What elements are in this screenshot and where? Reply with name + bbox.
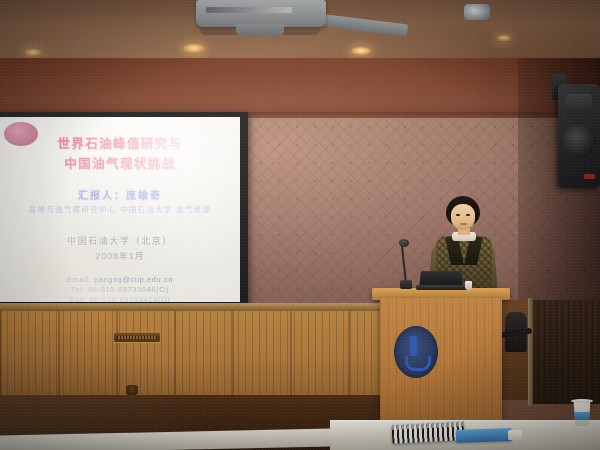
- slide-date: 2008年1月: [0, 250, 240, 262]
- podium-cup: [465, 281, 472, 290]
- speaker-tweeter-icon: [566, 94, 592, 114]
- presenter-eye: [456, 214, 460, 216]
- slide-title-line1: 世界石油峰值研究与: [0, 135, 240, 154]
- cabinet-frame: [528, 298, 533, 406]
- slide-email: Email: pangxq@cup.edu.cn: [0, 275, 240, 285]
- projector-bracket: [236, 24, 284, 36]
- paper-cup-rim: [571, 399, 593, 403]
- lecture-hall-photo: 世界石油峰值研究与 中国油气现状挑战 汇报人：庞雄奇 盆地与油气藏研究中心 中国…: [0, 0, 600, 450]
- speaker-brand-badge: [584, 174, 595, 179]
- slide-organization: 中国石油大学（北京）: [0, 234, 240, 247]
- presenter-face: [451, 204, 475, 230]
- blue-folder: [456, 428, 512, 443]
- slide-content: 世界石油峰值研究与 中国油气现状挑战 汇报人：庞雄奇 盆地与油气藏研究中心 中国…: [0, 117, 240, 302]
- slide-presenter: 汇报人：庞雄奇: [0, 187, 240, 202]
- laptop-base: [416, 285, 468, 290]
- wall-loudspeaker: [558, 84, 600, 188]
- presenter-eye: [466, 214, 470, 216]
- paper-cup-band: [573, 412, 591, 420]
- slide-contact-block: Email: pangxq@cup.edu.cn Tel: 86-010-897…: [0, 275, 240, 302]
- projector-lens-icon: [464, 4, 490, 20]
- slide-affiliation: 盆地与油气藏研究中心 中国石油大学 油气资源: [0, 204, 240, 215]
- recessed-downlight-icon: [351, 47, 371, 55]
- microphone-base: [400, 280, 412, 289]
- recessed-downlight-icon: [183, 44, 205, 53]
- slide-title-line2: 中国油气现状挑战: [0, 155, 240, 174]
- speaker-woofer-icon: [562, 124, 596, 158]
- dark-cabinet: [532, 300, 600, 404]
- wood-wainscot-panel: [0, 311, 380, 397]
- slide-tel: Tel: 86-010-89733546(O): [0, 285, 240, 295]
- ceiling-projector: [196, 0, 326, 27]
- wall-air-vent: [114, 333, 160, 342]
- recessed-downlight-icon: [497, 35, 511, 41]
- university-emblem-icon: [394, 326, 438, 378]
- blue-folder-tip: [508, 430, 522, 440]
- recessed-downlight-icon: [25, 49, 41, 56]
- microphone-head-icon: [399, 239, 409, 247]
- presenter-mouth: [460, 223, 467, 225]
- slide-fax: Fax: 86-010-89733423(O): [0, 295, 240, 302]
- projection-screen: 世界石油峰值研究与 中国油气现状挑战 汇报人：庞雄奇 盆地与油气藏研究中心 中国…: [0, 117, 240, 302]
